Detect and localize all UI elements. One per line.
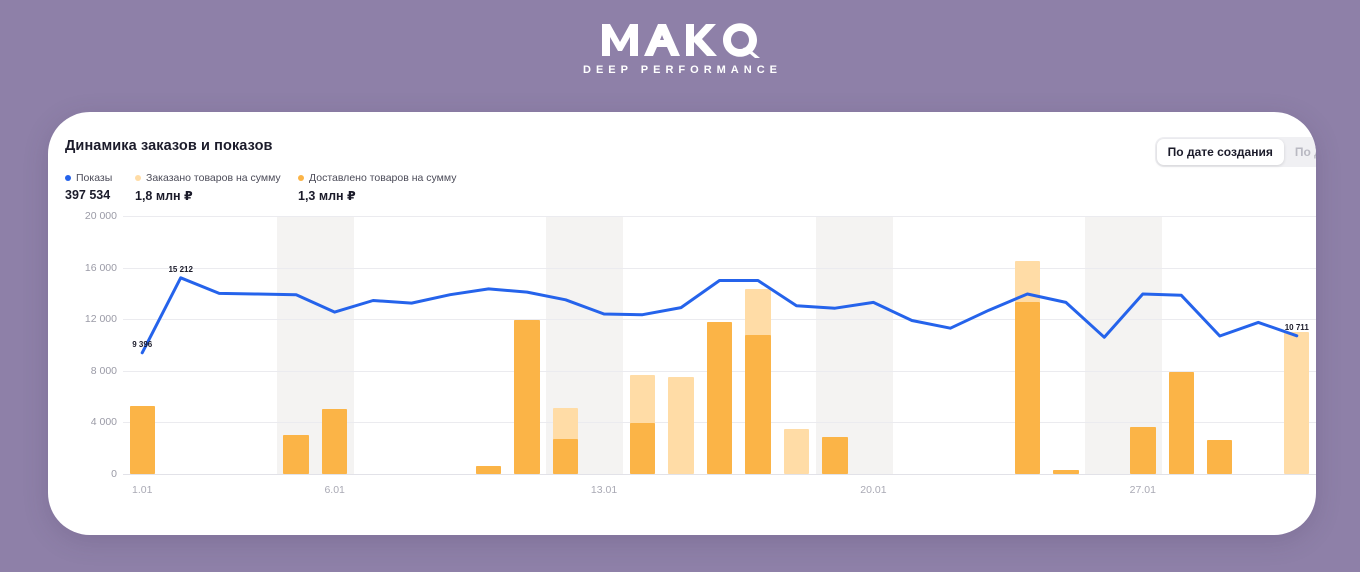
- chart-plot: 04 0008 00012 00016 00020 000 9 39615 21…: [65, 216, 1316, 506]
- card-header: Динамика заказов и показов По дате созда…: [48, 112, 1316, 174]
- legend-value-impressions: 397 534: [65, 188, 135, 202]
- page-root: DEEP PERFORMANCE Динамика заказов и пока…: [0, 0, 1360, 572]
- legend-dot-impressions: [65, 175, 71, 181]
- legend-dot-ordered: [135, 175, 141, 181]
- legend-value-delivered: 1,3 млн ₽: [298, 188, 456, 203]
- data-point-label: 9 396: [132, 340, 152, 349]
- legend-dot-delivered: [298, 175, 304, 181]
- legend-value-ordered: 1,8 млн ₽: [135, 188, 298, 203]
- brand-tagline: DEEP PERFORMANCE: [578, 64, 782, 76]
- y-axis-tick: 0: [111, 468, 117, 480]
- bar-delivered[interactable]: [514, 320, 539, 474]
- y-axis-tick: 8 000: [91, 365, 117, 377]
- bar-delivered[interactable]: [745, 335, 770, 474]
- legend-item-delivered: Доставлено товаров на сумму 1,3 млн ₽: [298, 172, 456, 203]
- bar-ordered[interactable]: [668, 377, 693, 474]
- legend-label-impressions: Показы: [76, 172, 112, 184]
- x-axis-tick: 13.01: [591, 484, 617, 496]
- x-axis-tick: 1.01: [132, 484, 152, 496]
- weekend-band: [816, 216, 893, 474]
- gridline: [123, 268, 1316, 269]
- y-axis-tick: 4 000: [91, 416, 117, 428]
- y-axis: 04 0008 00012 00016 00020 000: [65, 216, 123, 474]
- bar-delivered[interactable]: [283, 435, 308, 474]
- gridline: [123, 319, 1316, 320]
- x-axis-tick: 6.01: [324, 484, 344, 496]
- legend-label-delivered: Доставлено товаров на сумму: [309, 172, 456, 184]
- legend-item-ordered: Заказано товаров на сумму 1,8 млн ₽: [135, 172, 298, 203]
- page-title: Динамика заказов и показов: [65, 138, 273, 154]
- bar-delivered[interactable]: [1207, 440, 1232, 474]
- brand-logo: DEEP PERFORMANCE: [0, 22, 1360, 76]
- chart-legend: Показы 397 534 Заказано товаров на сумму…: [65, 172, 456, 203]
- x-axis-tick: 27.01: [1130, 484, 1156, 496]
- date-mode-toggle[interactable]: По дате создания По дате с: [1155, 137, 1316, 167]
- bar-delivered[interactable]: [630, 423, 655, 474]
- bar-delivered[interactable]: [130, 406, 155, 474]
- bar-delivered[interactable]: [1130, 427, 1155, 474]
- bar-delivered[interactable]: [707, 322, 732, 474]
- plot-area: 9 39615 21210 711: [123, 216, 1316, 474]
- bar-delivered[interactable]: [322, 409, 347, 474]
- legend-item-impressions: Показы 397 534: [65, 172, 135, 202]
- mako-wordmark-icon: [600, 22, 760, 58]
- bar-delivered[interactable]: [1169, 372, 1194, 474]
- bar-delivered[interactable]: [1015, 302, 1040, 474]
- toggle-by-creation-date[interactable]: По дате создания: [1157, 139, 1284, 165]
- x-axis-tick: 20.01: [860, 484, 886, 496]
- y-axis-tick: 16 000: [85, 262, 117, 274]
- bar-ordered[interactable]: [784, 429, 809, 474]
- gridline: [123, 216, 1316, 217]
- y-axis-tick: 12 000: [85, 313, 117, 325]
- bar-ordered[interactable]: [1284, 332, 1309, 474]
- chart-card: Динамика заказов и показов По дате созда…: [48, 112, 1316, 535]
- y-axis-tick: 20 000: [85, 210, 117, 222]
- data-point-label: 10 711: [1285, 323, 1309, 332]
- data-point-label: 15 212: [168, 265, 192, 274]
- bar-delivered[interactable]: [822, 437, 847, 474]
- bar-delivered[interactable]: [476, 466, 501, 474]
- x-axis: 1.016.0113.0120.0127.01: [123, 474, 1316, 506]
- bar-delivered[interactable]: [553, 439, 578, 474]
- toggle-by-shipment-date[interactable]: По дате с: [1284, 139, 1316, 165]
- legend-label-ordered: Заказано товаров на сумму: [146, 172, 281, 184]
